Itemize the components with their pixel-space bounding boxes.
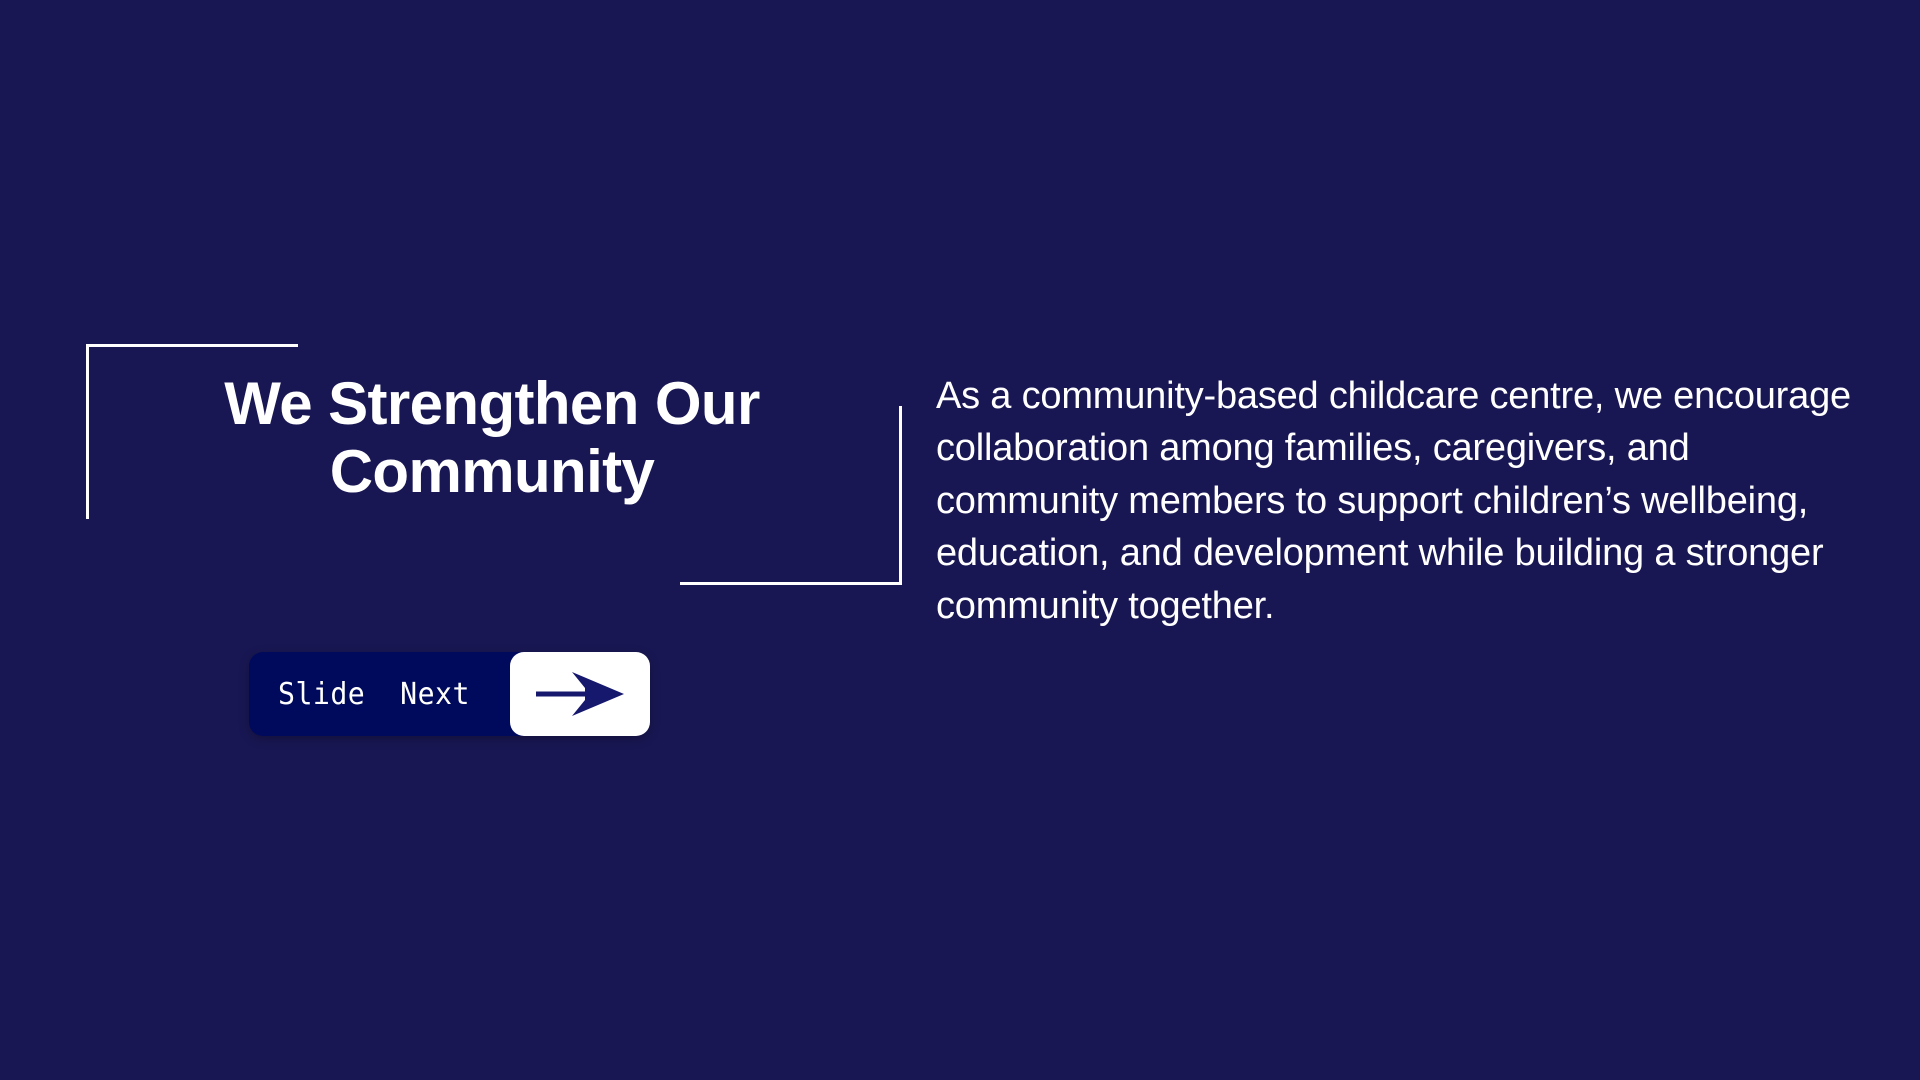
- bracket-bottom-right-horizontal-line: [680, 582, 902, 585]
- slide-canvas: We Strengthen Our Community Slide Next A…: [0, 0, 1920, 1080]
- arrow-right-icon[interactable]: [510, 652, 650, 736]
- slide-next-label: Slide Next: [278, 677, 496, 712]
- bracket-bottom-right-vertical-line: [899, 406, 902, 585]
- heading-block: We Strengthen Our Community: [116, 370, 868, 506]
- slide-next-button[interactable]: Slide Next: [249, 652, 650, 736]
- page-title: We Strengthen Our Community: [116, 370, 868, 506]
- bracket-top-left-vertical-line: [86, 344, 89, 519]
- bracket-top-left-horizontal-line: [86, 344, 298, 347]
- body-paragraph: As a community-based childcare centre, w…: [936, 370, 1854, 632]
